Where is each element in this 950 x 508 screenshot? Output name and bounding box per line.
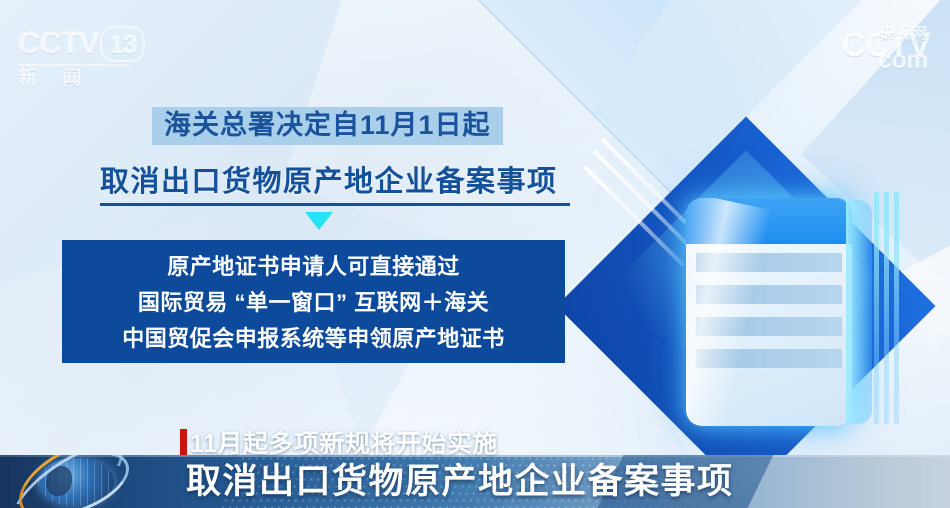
info-panel-line: 原产地证书申请人可直接通过 <box>167 249 460 285</box>
cctv13-wordmark: CCTV13 <box>18 26 158 62</box>
triangle-down-icon <box>305 212 333 230</box>
cctv-com-logo: CCTV 央视网 com <box>841 28 930 62</box>
vertical-light-band <box>874 192 879 424</box>
logo-divider <box>18 64 130 66</box>
cctv-cn-text: 央视网 <box>880 22 928 43</box>
info-panel: 原产地证书申请人可直接通过 国际贸易 “单一窗口” 互联网＋海关 中国贸促会申报… <box>62 240 565 363</box>
channel-subtitle: 新 闻 <box>18 69 158 89</box>
headline-line2: 取消出口货物原产地企业备案事项 <box>100 165 570 199</box>
cctv-text: CCTV <box>18 25 98 60</box>
globe-swoosh <box>16 455 138 508</box>
bg-shape-b <box>458 0 882 192</box>
lower-third-banner: 取消出口货物原产地企业备案事项 <box>0 455 950 508</box>
red-marker-bar <box>180 429 187 455</box>
banner-title: 取消出口货物原产地企业备案事项 <box>186 458 734 506</box>
channel-number: 13 <box>100 26 145 62</box>
vertical-light-band <box>894 192 899 424</box>
headline-line1-wrap: 海关总署决定自11月1日起 <box>152 107 503 145</box>
document-edge-glow <box>846 200 872 424</box>
headline-line2-wrap: 取消出口货物原产地企业备案事项 <box>100 165 570 206</box>
sub-headline-text: 11月起多项新规将开始实施 <box>190 424 498 460</box>
headline-line1: 海关总署决定自11月1日起 <box>152 107 503 145</box>
info-panel-line: 中国贸促会申报系统等申领原产地证书 <box>122 321 505 357</box>
cctv-domain-text: com <box>878 46 928 75</box>
headline-underline <box>100 203 570 206</box>
vertical-light-band <box>884 192 889 424</box>
info-panel-line: 国际贸易 “单一窗口” 互联网＋海关 <box>138 285 489 321</box>
document-list-icon <box>686 198 852 426</box>
broadcast-screen: CCTV13 新 闻 CCTV 央视网 com 海关总署决定自11月1日起 取消… <box>0 0 950 508</box>
cctv13-channel-logo: CCTV13 新 闻 <box>18 26 158 88</box>
sub-headline: 11月起多项新规将开始实施 <box>180 424 498 460</box>
